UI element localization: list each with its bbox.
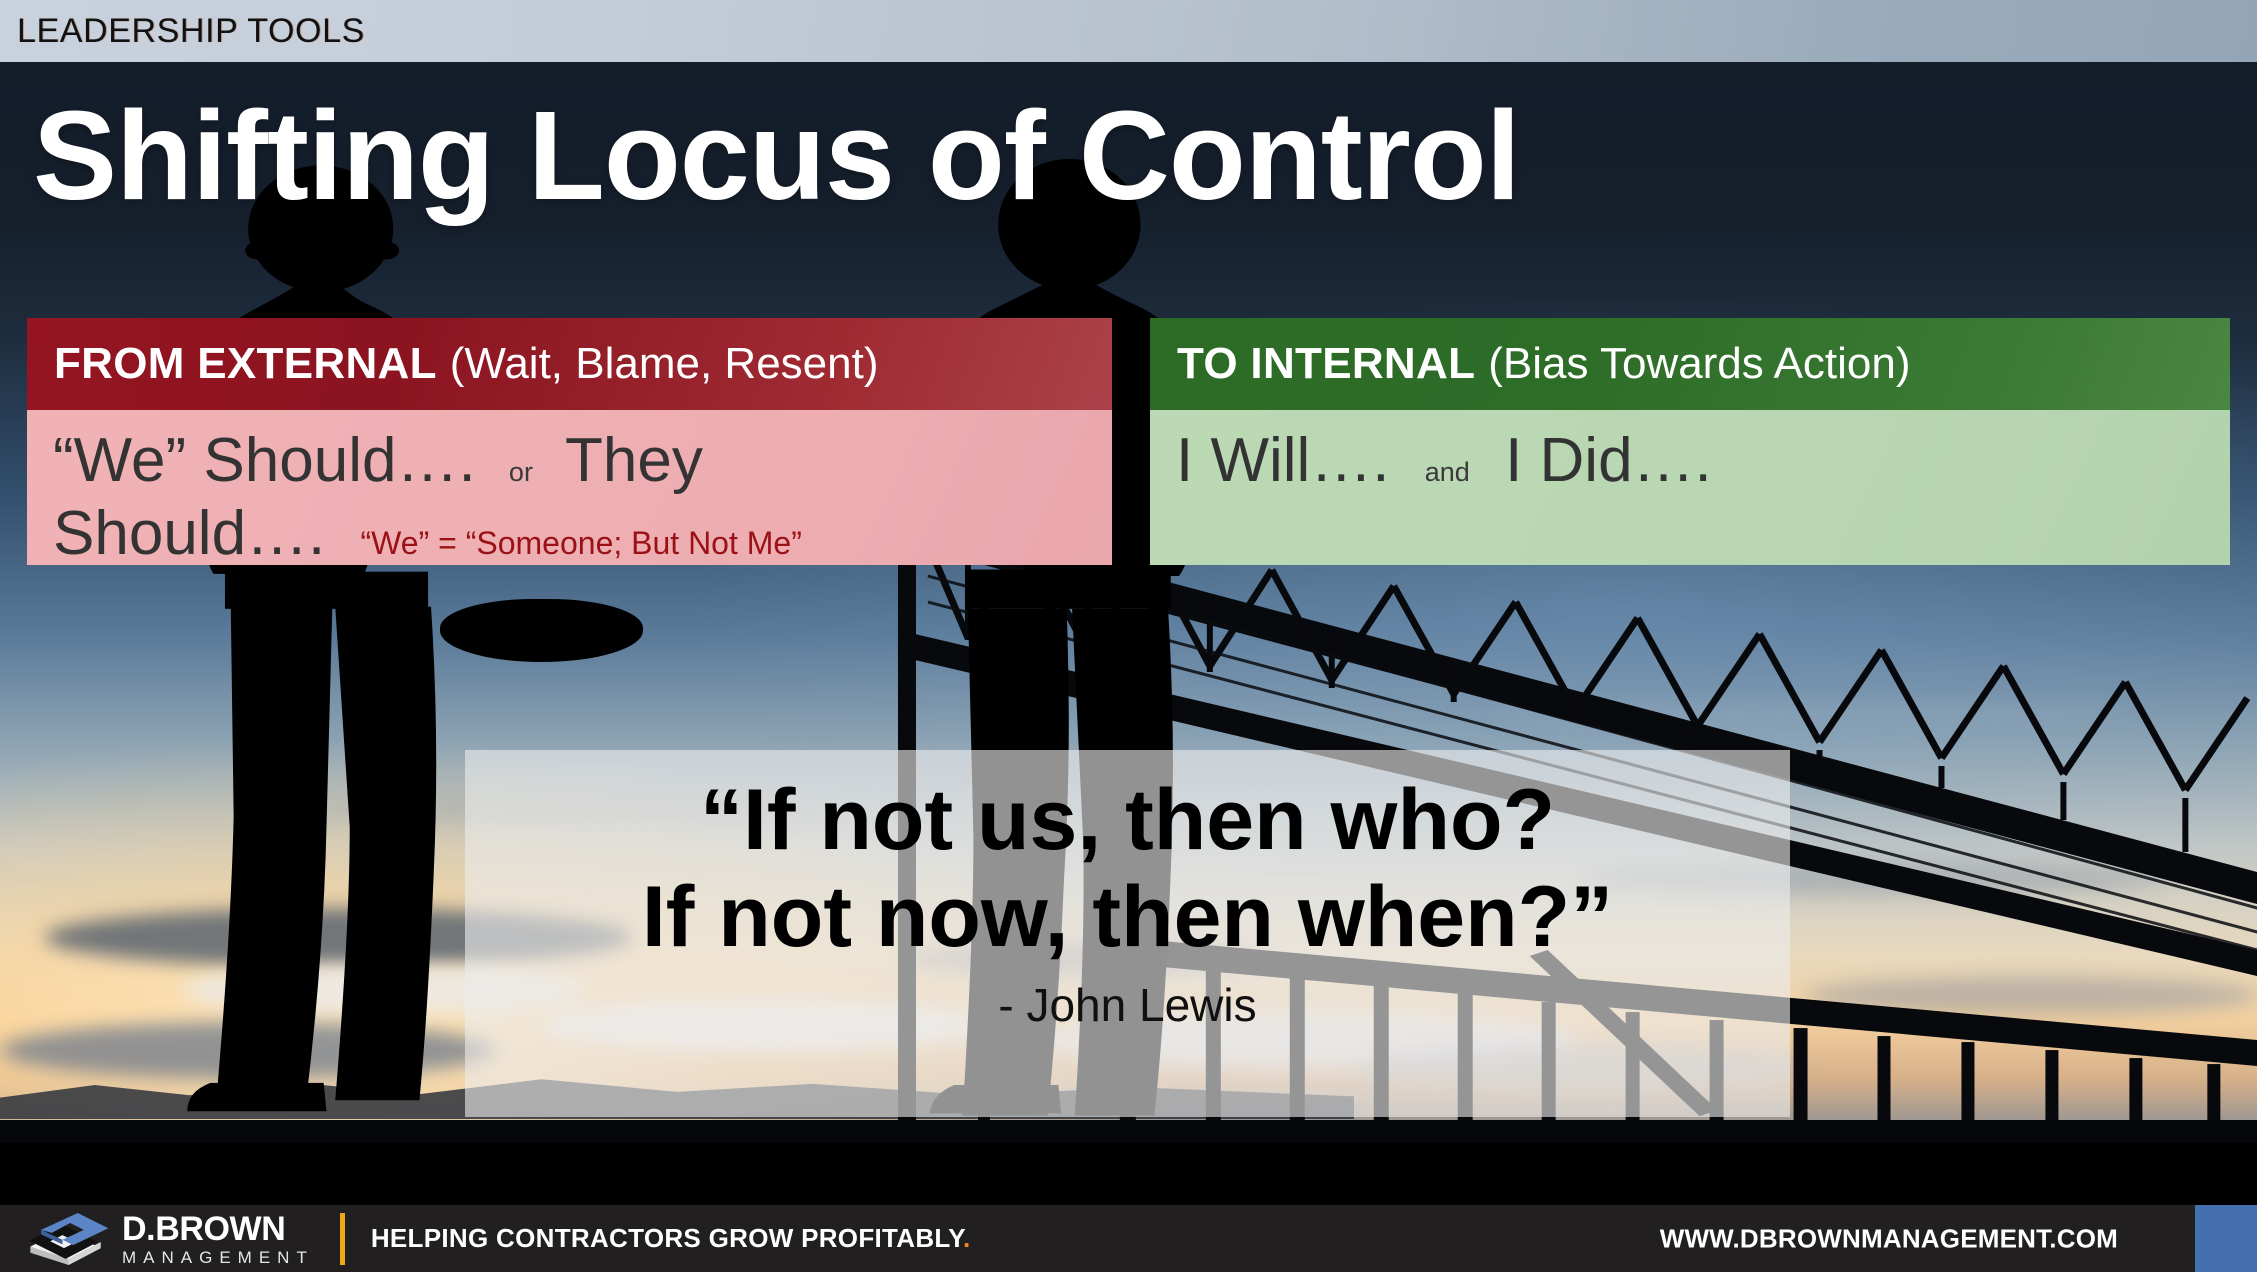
external-conjunction: or [509,457,533,487]
internal-conjunction: and [1425,457,1470,487]
brand-lockup: D.BROWN MANAGEMENT [122,1212,314,1266]
external-phrase-main: “We” Should…. [53,426,476,495]
panel-to-internal: TO INTERNAL (Bias Towards Action) I Will… [1150,318,2230,565]
panel-from-external-header: FROM EXTERNAL (Wait, Blame, Resent) [27,318,1112,410]
footer-blue-accent [2195,1205,2257,1272]
header-eyebrow: LEADERSHIP TOOLS [0,12,365,51]
slide: LEADERSHIP TOOLS Shifting Locus of Contr… [0,0,2257,1272]
header-bar: LEADERSHIP TOOLS [0,0,2257,62]
joined-hands [440,599,643,662]
internal-line-1: I Will…. and I Did…. [1176,428,2210,495]
footer-url[interactable]: WWW.DBROWNMANAGEMENT.COM [1660,1223,2118,1254]
external-line-1: “We” Should…. or They [53,428,1092,495]
dbrown-logo-icon [18,1213,110,1265]
panel-from-external-body: “We” Should…. or They Should…. “We” = “S… [27,410,1112,565]
internal-phrase-main: I Will…. [1176,426,1390,495]
external-phrase-tail: They [565,426,703,495]
footer-tagline: HELPING CONTRACTORS GROW PROFITABLY. [371,1223,971,1254]
footer-spacer [0,1143,2257,1205]
external-phrase-main-2: Should…. [53,499,325,568]
brand-name: D.BROWN [122,1212,314,1246]
footer-tagline-text: HELPING CONTRACTORS GROW PROFITABLY [371,1223,963,1253]
quote-line-1: “If not us, then who? [700,772,1555,869]
internal-phrase-tail: I Did…. [1505,426,1712,495]
panel-to-internal-header: TO INTERNAL (Bias Towards Action) [1150,318,2230,410]
panel-to-internal-title: TO INTERNAL [1177,339,1475,389]
page-title: Shifting Locus of Control [33,92,1520,221]
external-note: “We” = “Someone; But Not Me” [361,525,802,561]
brand-subtitle: MANAGEMENT [122,1249,314,1266]
footer-tagline-dot: . [963,1223,971,1253]
quote-line-2: If not now, then when?” [642,869,1613,966]
quote-author: - John Lewis [998,978,1256,1032]
external-line-2: Should…. “We” = “Someone; But Not Me” [53,501,1092,568]
panel-from-external-subtitle: (Wait, Blame, Resent) [450,339,879,389]
panel-from-external-title: FROM EXTERNAL [54,339,437,389]
footer-divider [340,1213,345,1265]
quote-box: “If not us, then who? If not now, then w… [465,750,1790,1117]
panel-to-internal-subtitle: (Bias Towards Action) [1488,339,1910,389]
footer-bar: D.BROWN MANAGEMENT HELPING CONTRACTORS G… [0,1205,2257,1272]
panel-from-external: FROM EXTERNAL (Wait, Blame, Resent) “We”… [27,318,1112,565]
panel-to-internal-body: I Will…. and I Did…. [1150,410,2230,565]
